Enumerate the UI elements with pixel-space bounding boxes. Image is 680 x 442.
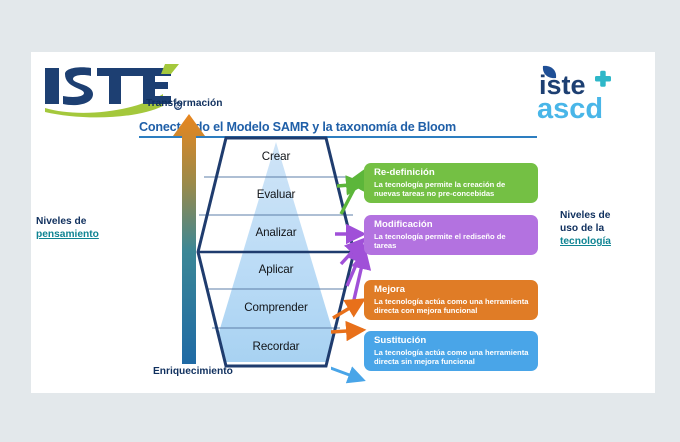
label-technology-line2: uso de la bbox=[560, 222, 652, 235]
samr-desc-redefinicion: La tecnología permite la creación de nue… bbox=[374, 180, 530, 199]
samr-card-mejora[interactable]: Mejora La tecnología actúa como una herr… bbox=[364, 280, 538, 320]
label-technology-levels: Niveles de uso de la tecnología bbox=[560, 209, 652, 248]
samr-card-sustitucion[interactable]: Sustitución La tecnología actúa como una… bbox=[364, 331, 538, 371]
slide-canvas: R iste ascd Conectando el Modelo SAMR y … bbox=[31, 52, 655, 393]
label-thinking-line2: pensamiento bbox=[36, 228, 128, 241]
label-thinking-levels: Niveles de pensamiento bbox=[36, 215, 128, 241]
samr-title-sustitucion: Sustitución bbox=[374, 335, 530, 347]
samr-card-modificacion[interactable]: Modificación La tecnología permite el re… bbox=[364, 215, 538, 255]
axis-top-label: Transformación bbox=[146, 98, 222, 109]
samr-desc-mejora: La tecnología actúa como una herramienta… bbox=[374, 297, 530, 316]
samr-desc-sustitucion: La tecnología actúa como una herramienta… bbox=[374, 348, 530, 367]
samr-desc-modificacion: La tecnología permite el rediseño de tar… bbox=[374, 232, 530, 251]
samr-title-modificacion: Modificación bbox=[374, 219, 530, 231]
samr-title-redefinicion: Re-definición bbox=[374, 167, 530, 179]
iste-ascd-logo: iste ascd bbox=[531, 60, 643, 122]
label-thinking-line1: Niveles de bbox=[36, 215, 128, 228]
samr-card-redefinicion[interactable]: Re-definición La tecnología permite la c… bbox=[364, 163, 538, 203]
svg-text:ascd: ascd bbox=[537, 93, 603, 122]
label-technology-line1: Niveles de bbox=[560, 209, 652, 222]
samr-title-mejora: Mejora bbox=[374, 284, 530, 296]
label-technology-line3: tecnología bbox=[560, 235, 652, 248]
